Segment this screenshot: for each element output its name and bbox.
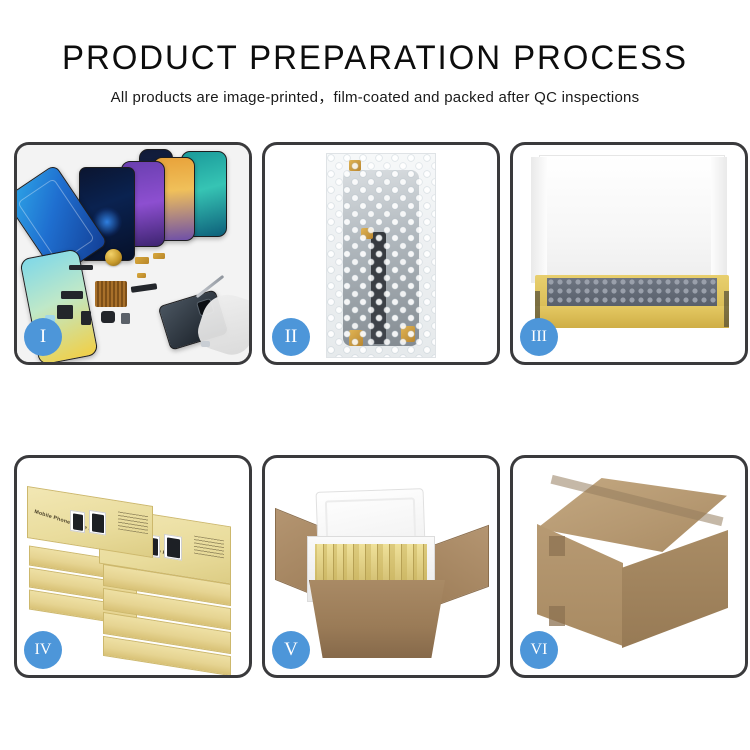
- step-panel-3[interactable]: III: [510, 142, 748, 365]
- page-header: PRODUCT PREPARATION PROCESS All products…: [0, 0, 750, 108]
- step-badge-4: IV: [24, 631, 62, 669]
- small-module-part-icon: [57, 305, 73, 319]
- step-panel-4[interactable]: Mobile Phone Spare Parts Mobile Phone Sp…: [14, 455, 252, 678]
- box-edge-right-icon: [724, 291, 729, 327]
- carton-tape-lower-icon: [549, 606, 565, 626]
- step-badge-3: III: [520, 318, 558, 356]
- step-panel-6[interactable]: VI: [510, 455, 748, 678]
- connector2-part-icon: [153, 253, 165, 259]
- step-badge-1: I: [24, 318, 62, 356]
- page-subtitle: All products are image-printed，film-coat…: [0, 88, 750, 108]
- vibrator-part-icon: [101, 311, 115, 323]
- bubble-bag-icon: [326, 153, 436, 358]
- step-badge-5: V: [272, 631, 310, 669]
- step-panel-5[interactable]: V: [262, 455, 500, 678]
- step-panel-2[interactable]: II: [262, 142, 500, 365]
- logic-board-part-icon: [95, 281, 127, 307]
- lid-flap-right-icon: [711, 157, 727, 283]
- page-title: PRODUCT PREPARATION PROCESS: [11, 38, 739, 78]
- process-steps-grid: I II III: [14, 142, 742, 678]
- screws-icon: [201, 341, 210, 347]
- lid-flap-left-icon: [531, 157, 547, 283]
- camera-lens-part-icon: [105, 249, 122, 266]
- carton-tape-upper-icon: [549, 536, 565, 556]
- step-badge-2: II: [272, 318, 310, 356]
- carton-body-icon: [309, 580, 445, 658]
- contact-part-icon: [137, 273, 146, 278]
- connector-part-icon: [135, 257, 149, 264]
- carton-right-face-icon: [622, 530, 728, 648]
- screw-set-part-icon: [121, 313, 130, 324]
- step-panel-1[interactable]: I: [14, 142, 252, 365]
- white-lid-icon: [539, 155, 725, 289]
- step-badge-6: VI: [520, 631, 558, 669]
- bracket-part-icon: [61, 291, 83, 299]
- button-part-icon: [81, 311, 91, 325]
- speaker-part-icon: [69, 265, 93, 270]
- kraft-box-front-icon: [535, 306, 729, 328]
